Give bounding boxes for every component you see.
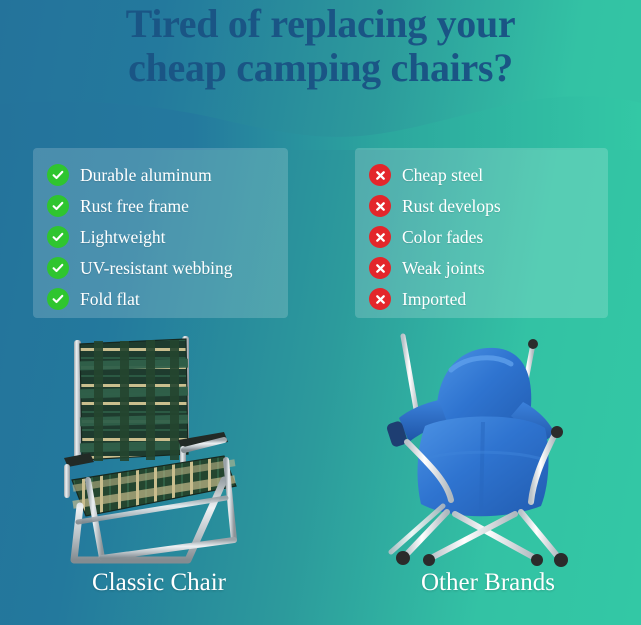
pros-panel: Durable aluminum Rust free frame Lightwe…: [33, 148, 288, 318]
classic-chair-caption: Classic Chair: [9, 568, 309, 598]
check-circle-icon: [47, 164, 69, 186]
wave-divider: [0, 0, 641, 150]
x-circle-icon: [369, 288, 391, 310]
poster-root: Tired of replacing your cheap camping ch…: [0, 0, 641, 625]
x-circle-icon: [369, 226, 391, 248]
cons-list: Cheap steel Rust develops Color fades We…: [355, 160, 608, 314]
check-circle-icon: [47, 226, 69, 248]
list-item: Rust free frame: [33, 191, 288, 221]
list-item-label: Cheap steel: [402, 165, 483, 185]
list-item: Cheap steel: [355, 160, 608, 190]
list-item-label: Lightweight: [80, 227, 166, 247]
x-circle-icon: [369, 164, 391, 186]
list-item-label: UV-resistant webbing: [80, 258, 232, 278]
list-item-label: Imported: [402, 289, 466, 309]
x-circle-icon: [369, 195, 391, 217]
list-item: Weak joints: [355, 253, 608, 283]
list-item: Color fades: [355, 222, 608, 252]
header-area: Tired of replacing your cheap camping ch…: [0, 0, 641, 150]
cons-panel: Cheap steel Rust develops Color fades We…: [355, 148, 608, 318]
pros-list: Durable aluminum Rust free frame Lightwe…: [33, 160, 288, 314]
list-item: Fold flat: [33, 284, 288, 314]
check-circle-icon: [47, 257, 69, 279]
list-item: Lightweight: [33, 222, 288, 252]
list-item: Rust develops: [355, 191, 608, 221]
headline-line-1: Tired of replacing your: [0, 2, 641, 46]
list-item-label: Color fades: [402, 227, 483, 247]
list-item: UV-resistant webbing: [33, 253, 288, 283]
check-circle-icon: [47, 195, 69, 217]
page-title: Tired of replacing your cheap camping ch…: [0, 2, 641, 90]
list-item-label: Weak joints: [402, 258, 485, 278]
list-item-label: Fold flat: [80, 289, 140, 309]
headline-line-2: cheap camping chairs?: [0, 46, 641, 90]
other-brands-caption: Other Brands: [338, 568, 638, 598]
list-item-label: Rust free frame: [80, 196, 189, 216]
check-circle-icon: [47, 288, 69, 310]
list-item-label: Rust develops: [402, 196, 501, 216]
other-brands-chair-image: [355, 330, 615, 570]
classic-chair-image: [28, 330, 288, 570]
x-circle-icon: [369, 257, 391, 279]
list-item-label: Durable aluminum: [80, 165, 212, 185]
list-item: Durable aluminum: [33, 160, 288, 190]
list-item: Imported: [355, 284, 608, 314]
